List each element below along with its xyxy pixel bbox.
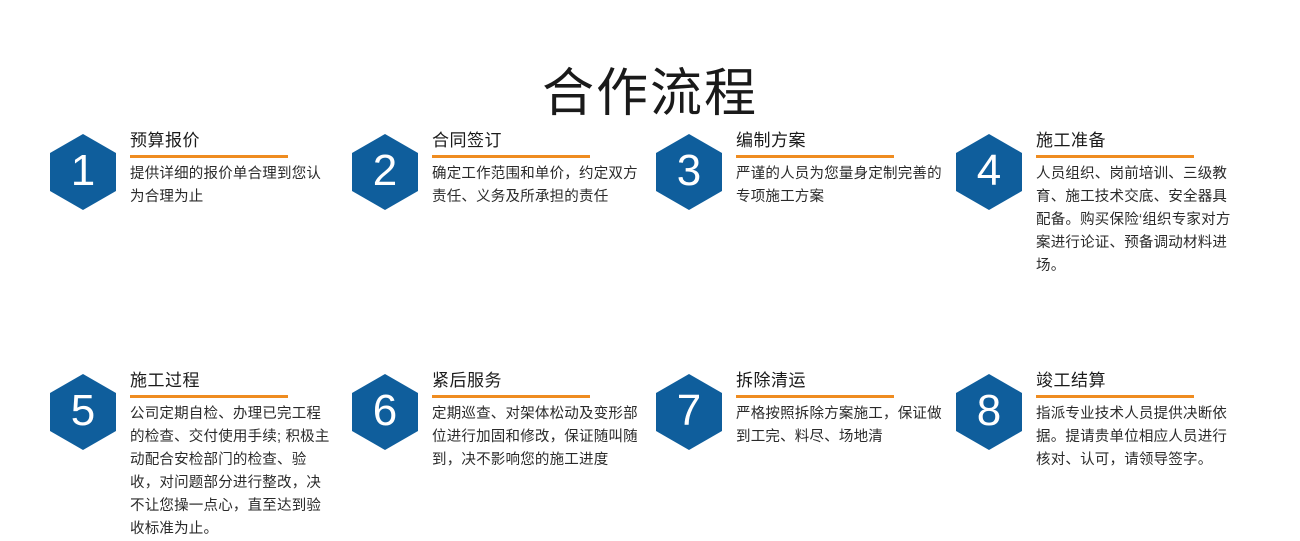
process-step-4[interactable]: 4 施工准备 人员组织、岗前培训、三级教育、施工技术交底、安全器具配备。购买保险… xyxy=(956,128,1256,278)
process-step-5[interactable]: 5 施工过程 公司定期自检、办理已完工程的检查、交付使用手续; 积极主动配合安检… xyxy=(50,368,345,541)
process-step-7[interactable]: 7 拆除清运 严格按照拆除方案施工，保证做到工完、料尽、场地清 xyxy=(656,368,948,450)
step-number-8: 8 xyxy=(977,389,1001,433)
step-description-4: 人员组织、岗前培训、三级教育、施工技术交底、安全器具配备。购买保险‘组织专家对方… xyxy=(1036,163,1232,278)
hexagon-badge-5: 5 xyxy=(50,374,116,450)
step-number-4: 4 xyxy=(977,149,1001,193)
step-title-7: 拆除清运 xyxy=(736,370,948,392)
step-body-2: 合同签订 确定工作范围和单价，约定双方责任、义务及所承担的责任 xyxy=(432,128,647,209)
step-title-3: 编制方案 xyxy=(736,130,948,152)
step-description-6: 定期巡查、对架体松动及变形部位进行加固和修改，保证随叫随到，决不影响您的施工进度 xyxy=(432,403,647,472)
cooperation-process-infographic: 合作流程 1 预算报价 提供详细的报价单合理到您认为合理为止 2 合同签订 xyxy=(0,0,1300,532)
hexagon-badge-7: 7 xyxy=(656,374,722,450)
step-description-7: 严格按照拆除方案施工，保证做到工完、料尽、场地清 xyxy=(736,403,948,449)
title-underline-4 xyxy=(1036,155,1194,158)
process-step-2[interactable]: 2 合同签订 确定工作范围和单价，约定双方责任、义务及所承担的责任 xyxy=(352,128,647,210)
title-underline-1 xyxy=(130,155,288,158)
process-step-6[interactable]: 6 紧后服务 定期巡查、对架体松动及变形部位进行加固和修改，保证随叫随到，决不影… xyxy=(352,368,647,472)
hexagon-badge-2: 2 xyxy=(352,134,418,210)
step-number-1: 1 xyxy=(71,149,95,193)
hexagon-badge-3: 3 xyxy=(656,134,722,210)
process-step-1[interactable]: 1 预算报价 提供详细的报价单合理到您认为合理为止 xyxy=(50,128,345,210)
process-step-3[interactable]: 3 编制方案 严谨的人员为您量身定制完善的专项施工方案 xyxy=(656,128,948,210)
title-underline-5 xyxy=(130,395,288,398)
step-title-4: 施工准备 xyxy=(1036,130,1256,152)
step-title-2: 合同签订 xyxy=(432,130,647,152)
step-body-8: 竣工结算 指派专业技术人员提供决断依据。提请贵单位相应人员进行核对、认可，请领导… xyxy=(1036,368,1256,472)
hexagon-badge-1: 1 xyxy=(50,134,116,210)
step-body-6: 紧后服务 定期巡查、对架体松动及变形部位进行加固和修改，保证随叫随到，决不影响您… xyxy=(432,368,647,472)
step-description-3: 严谨的人员为您量身定制完善的专项施工方案 xyxy=(736,163,948,209)
step-description-2: 确定工作范围和单价，约定双方责任、义务及所承担的责任 xyxy=(432,163,647,209)
step-description-8: 指派专业技术人员提供决断依据。提请贵单位相应人员进行核对、认可，请领导签字。 xyxy=(1036,403,1232,472)
step-description-1: 提供详细的报价单合理到您认为合理为止 xyxy=(130,163,330,209)
step-body-4: 施工准备 人员组织、岗前培训、三级教育、施工技术交底、安全器具配备。购买保险‘组… xyxy=(1036,128,1256,278)
process-steps-grid: 1 预算报价 提供详细的报价单合理到您认为合理为止 2 合同签订 确定工作范围和… xyxy=(0,128,1300,508)
step-number-5: 5 xyxy=(71,389,95,433)
hexagon-badge-8: 8 xyxy=(956,374,1022,450)
title-underline-6 xyxy=(432,395,590,398)
title-underline-8 xyxy=(1036,395,1194,398)
page-title: 合作流程 xyxy=(0,61,1300,127)
step-title-8: 竣工结算 xyxy=(1036,370,1256,392)
step-title-6: 紧后服务 xyxy=(432,370,647,392)
step-number-2: 2 xyxy=(373,149,397,193)
step-title-5: 施工过程 xyxy=(130,370,345,392)
hexagon-badge-6: 6 xyxy=(352,374,418,450)
step-title-1: 预算报价 xyxy=(130,130,345,152)
step-body-5: 施工过程 公司定期自检、办理已完工程的检查、交付使用手续; 积极主动配合安检部门… xyxy=(130,368,345,541)
title-underline-3 xyxy=(736,155,894,158)
step-description-5: 公司定期自检、办理已完工程的检查、交付使用手续; 积极主动配合安检部门的检查、验… xyxy=(130,403,330,541)
step-number-3: 3 xyxy=(677,149,701,193)
step-number-7: 7 xyxy=(677,389,701,433)
step-number-6: 6 xyxy=(373,389,397,433)
hexagon-badge-4: 4 xyxy=(956,134,1022,210)
step-body-1: 预算报价 提供详细的报价单合理到您认为合理为止 xyxy=(130,128,345,209)
process-row-bottom: 5 施工过程 公司定期自检、办理已完工程的检查、交付使用手续; 积极主动配合安检… xyxy=(0,308,1300,508)
title-underline-2 xyxy=(432,155,590,158)
step-body-3: 编制方案 严谨的人员为您量身定制完善的专项施工方案 xyxy=(736,128,948,209)
step-body-7: 拆除清运 严格按照拆除方案施工，保证做到工完、料尽、场地清 xyxy=(736,368,948,449)
process-step-8[interactable]: 8 竣工结算 指派专业技术人员提供决断依据。提请贵单位相应人员进行核对、认可，请… xyxy=(956,368,1256,472)
title-underline-7 xyxy=(736,395,894,398)
process-row-top: 1 预算报价 提供详细的报价单合理到您认为合理为止 2 合同签订 确定工作范围和… xyxy=(0,128,1300,308)
